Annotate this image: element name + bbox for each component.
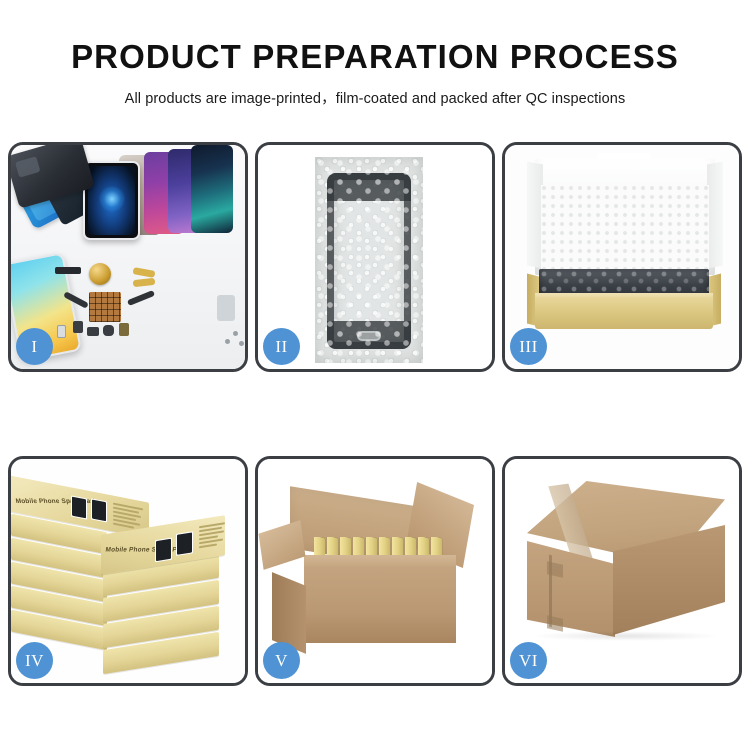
process-step-panel-4[interactable]: Mobile Phone Spare Parts Mobile Phone Sp… [8, 456, 248, 686]
part-small-d [119, 323, 129, 336]
box-front-panel [535, 297, 713, 329]
box-spec-lines-front [199, 522, 225, 550]
part-wireless-coil [89, 263, 111, 285]
part-small-a [73, 321, 83, 333]
step-badge-3: III [510, 328, 547, 365]
product-preparation-process-page: PRODUCT PREPARATION PROCESS All products… [0, 0, 750, 750]
carton-front-panel [304, 567, 456, 643]
box-thumbnail-front-2 [176, 531, 193, 556]
process-step-panel-1[interactable]: I [8, 142, 248, 372]
part-screw-c [239, 341, 244, 346]
step-badge-1: I [16, 328, 53, 365]
process-step-panel-3[interactable]: III [502, 142, 742, 372]
box-thumbnail-back-1 [71, 495, 87, 519]
process-step-panel-5[interactable]: V [255, 456, 495, 686]
part-tool-tweezers [217, 295, 235, 321]
part-small-e [57, 325, 66, 338]
step-badge-5: V [263, 642, 300, 679]
part-chip-grid [89, 292, 121, 322]
box-label-back: Mobile Phone Spare Parts [15, 498, 100, 505]
step-badge-4: IV [16, 642, 53, 679]
page-title: PRODUCT PREPARATION PROCESS [0, 0, 750, 73]
page-subtitle: All products are image-printed，film-coat… [0, 73, 750, 108]
part-small-c [103, 325, 114, 336]
box-thumbnail-back-2 [91, 498, 107, 522]
screen-home-button [357, 331, 381, 341]
part-connector-strip [55, 267, 81, 274]
phone-black-front [83, 161, 140, 240]
bubble-wrap-sheet [315, 157, 423, 363]
part-screw-a [233, 331, 238, 336]
carton-ground-shadow [531, 631, 721, 641]
process-step-panel-6[interactable]: VI [502, 456, 742, 686]
process-step-grid: I II [8, 142, 742, 686]
step-badge-2: II [263, 328, 300, 365]
screen-top-bezel [327, 173, 411, 201]
box-thumbnail-front-1 [155, 538, 172, 563]
part-small-b [87, 327, 99, 336]
box-lid-flap-right [707, 162, 723, 269]
foam-liner [541, 185, 709, 275]
part-screw-b [225, 339, 230, 344]
step-badge-6: VI [510, 642, 547, 679]
phone-teal [191, 145, 233, 233]
process-step-panel-2[interactable]: II [255, 142, 495, 372]
page-header: PRODUCT PREPARATION PROCESS All products… [0, 0, 750, 108]
